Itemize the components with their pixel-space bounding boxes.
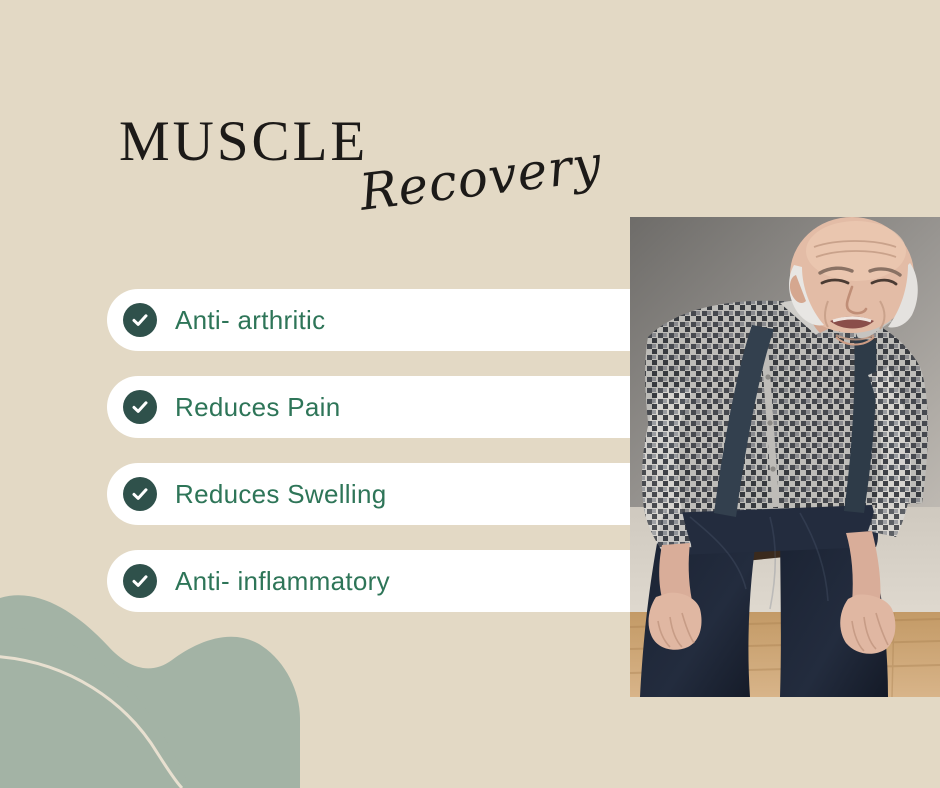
check-mark-icon bbox=[130, 571, 150, 591]
check-circle-icon bbox=[123, 390, 157, 424]
page-title: MUSCLE bbox=[119, 113, 368, 170]
list-item-label: Anti- inflammatory bbox=[175, 566, 390, 597]
list-item-label: Reduces Swelling bbox=[175, 479, 386, 510]
left-hand bbox=[649, 593, 702, 650]
page-subtitle-script: Recovery bbox=[357, 139, 605, 218]
check-mark-icon bbox=[130, 484, 150, 504]
photo-illustration bbox=[630, 217, 940, 697]
check-circle-icon bbox=[123, 564, 157, 598]
check-circle-icon bbox=[123, 477, 157, 511]
list-item-label: Anti- arthritic bbox=[175, 305, 325, 336]
hero-photo bbox=[630, 217, 940, 697]
poster-canvas: MUSCLE Recovery Anti- arthritic Reduces … bbox=[0, 0, 940, 788]
list-item-label: Reduces Pain bbox=[175, 392, 340, 423]
check-mark-icon bbox=[130, 397, 150, 417]
right-hand bbox=[840, 595, 895, 654]
check-circle-icon bbox=[123, 303, 157, 337]
check-mark-icon bbox=[130, 310, 150, 330]
